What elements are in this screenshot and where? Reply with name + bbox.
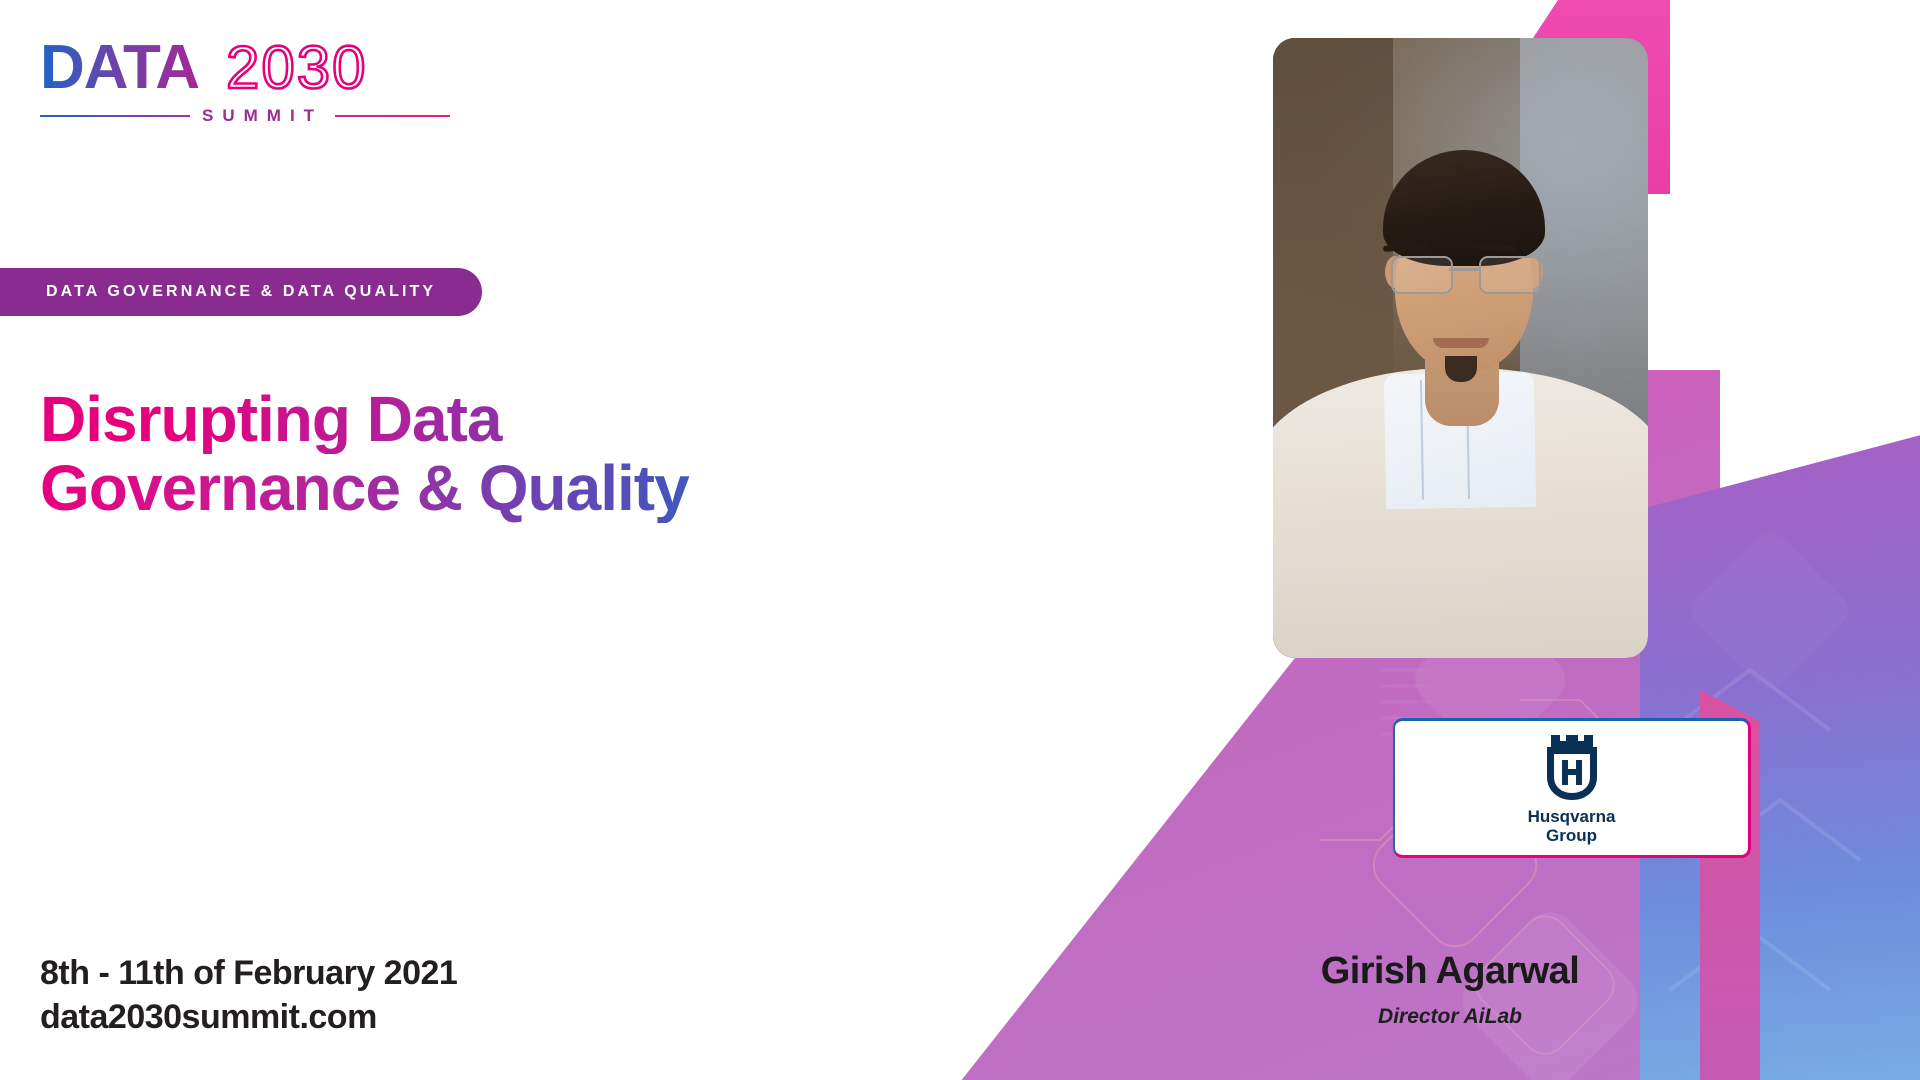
photo-lens-left <box>1391 256 1453 294</box>
company-name: Husqvarna Group <box>1528 807 1616 845</box>
husqvarna-crown-shield-icon <box>1541 731 1603 803</box>
logo-data-2030-svg: DATA 2030 <box>40 38 460 100</box>
photo-goatee <box>1445 356 1477 382</box>
promo-slide: DATA 2030 SUMMIT DATA GOVERNANCE & DATA … <box>0 0 1920 1080</box>
logo-wordmark: DATA 2030 <box>40 38 460 100</box>
topic-banner-label: DATA GOVERNANCE & DATA QUALITY <box>46 283 436 301</box>
logo-summit-row: SUMMIT <box>40 106 460 126</box>
event-website[interactable]: data2030summit.com <box>40 996 457 1040</box>
speaker-role: Director AiLab <box>1140 1005 1760 1029</box>
svg-text:DATA: DATA <box>40 38 199 100</box>
logo-rule-left <box>40 115 190 117</box>
topic-banner: DATA GOVERNANCE & DATA QUALITY <box>0 268 482 316</box>
svg-text:2030: 2030 <box>226 38 367 100</box>
speaker-photo <box>1273 38 1648 658</box>
photo-glasses <box>1389 256 1539 290</box>
session-title: Disrupting Data Governance & Quality <box>40 385 860 523</box>
speaker-info: Girish Agarwal Director AiLab <box>1140 950 1760 1029</box>
photo-lens-right <box>1479 256 1541 294</box>
photo-mouth <box>1433 338 1489 348</box>
company-logo-card: Husqvarna Group <box>1393 718 1751 858</box>
event-logo[interactable]: DATA 2030 SUMMIT <box>40 38 460 126</box>
photo-glasses-bridge <box>1449 268 1479 271</box>
session-title-line1: Disrupting Data <box>40 385 860 454</box>
event-details: 8th - 11th of February 2021 data2030summ… <box>40 952 457 1039</box>
company-name-line2: Group <box>1528 826 1616 845</box>
logo-rule-right <box>335 115 450 117</box>
session-title-line2: Governance & Quality <box>40 454 860 523</box>
speaker-name: Girish Agarwal <box>1140 950 1760 993</box>
logo-summit-label: SUMMIT <box>202 106 323 126</box>
company-name-line1: Husqvarna <box>1528 807 1616 826</box>
event-dates: 8th - 11th of February 2021 <box>40 952 457 996</box>
